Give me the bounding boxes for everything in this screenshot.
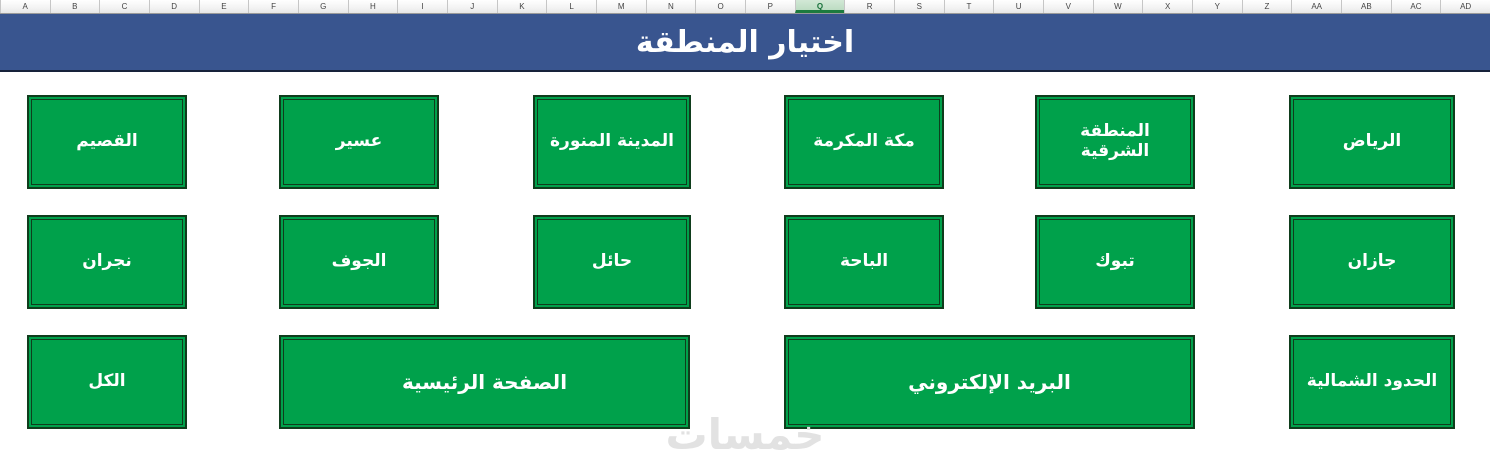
column-header-k[interactable]: K (497, 0, 547, 13)
column-header-o[interactable]: O (695, 0, 745, 13)
column-header-q[interactable]: Q (795, 0, 845, 13)
column-header-h[interactable]: H (348, 0, 398, 13)
column-header-a[interactable]: A (0, 0, 50, 13)
region-button-riyadh[interactable]: الرياض (1289, 95, 1455, 189)
region-button-all[interactable]: الكل (27, 335, 187, 429)
region-button-northern-borders[interactable]: الحدود الشمالية (1289, 335, 1455, 429)
region-button-najran[interactable]: نجران (27, 215, 187, 309)
column-header-s[interactable]: S (894, 0, 944, 13)
region-row-3: الحدود الشماليةالبريد الإلكترونيالصفحة ا… (0, 335, 1490, 435)
spreadsheet-column-header-strip: ADACABAAZYXWVUTSRQPONMLKJIHGFEDCBA (0, 0, 1490, 14)
column-header-ad[interactable]: AD (1440, 0, 1490, 13)
page-title-banner: اختيار المنطقة (0, 14, 1490, 72)
column-header-t[interactable]: T (944, 0, 994, 13)
region-button-tabuk[interactable]: تبوك (1035, 215, 1195, 309)
column-header-l[interactable]: L (546, 0, 596, 13)
region-button-makkah[interactable]: مكة المكرمة (784, 95, 944, 189)
column-header-j[interactable]: J (447, 0, 497, 13)
region-button-albaha[interactable]: الباحة (784, 215, 944, 309)
region-button-madinah[interactable]: المدينة المنورة (533, 95, 691, 189)
column-header-n[interactable]: N (646, 0, 696, 13)
column-header-v[interactable]: V (1043, 0, 1093, 13)
column-header-e[interactable]: E (199, 0, 249, 13)
region-button-jazan[interactable]: جازان (1289, 215, 1455, 309)
region-row-2: جازانتبوكالباحةحائلالجوفنجران (0, 215, 1490, 315)
column-header-y[interactable]: Y (1192, 0, 1242, 13)
column-header-m[interactable]: M (596, 0, 646, 13)
column-header-f[interactable]: F (248, 0, 298, 13)
column-header-i[interactable]: I (397, 0, 447, 13)
nav-button-home[interactable]: الصفحة الرئيسية (279, 335, 690, 429)
column-header-ac[interactable]: AC (1391, 0, 1441, 13)
column-header-b[interactable]: B (50, 0, 100, 13)
column-header-d[interactable]: D (149, 0, 199, 13)
region-button-qassim[interactable]: القصيم (27, 95, 187, 189)
region-button-asir[interactable]: عسير (279, 95, 439, 189)
region-button-grid: الرياضالمنطقة الشرقيةمكة المكرمةالمدينة … (0, 74, 1490, 434)
column-header-x[interactable]: X (1142, 0, 1192, 13)
region-button-eastern-province[interactable]: المنطقة الشرقية (1035, 95, 1195, 189)
region-row-1: الرياضالمنطقة الشرقيةمكة المكرمةالمدينة … (0, 95, 1490, 195)
column-header-c[interactable]: C (99, 0, 149, 13)
region-button-aljouf[interactable]: الجوف (279, 215, 439, 309)
column-header-g[interactable]: G (298, 0, 348, 13)
column-header-z[interactable]: Z (1242, 0, 1292, 13)
column-header-p[interactable]: P (745, 0, 795, 13)
page-title: اختيار المنطقة (636, 25, 854, 60)
column-header-aa[interactable]: AA (1291, 0, 1341, 13)
column-header-ab[interactable]: AB (1341, 0, 1391, 13)
region-button-hail[interactable]: حائل (533, 215, 691, 309)
column-header-u[interactable]: U (993, 0, 1043, 13)
column-header-w[interactable]: W (1093, 0, 1143, 13)
column-header-r[interactable]: R (844, 0, 894, 13)
nav-button-email[interactable]: البريد الإلكتروني (784, 335, 1195, 429)
